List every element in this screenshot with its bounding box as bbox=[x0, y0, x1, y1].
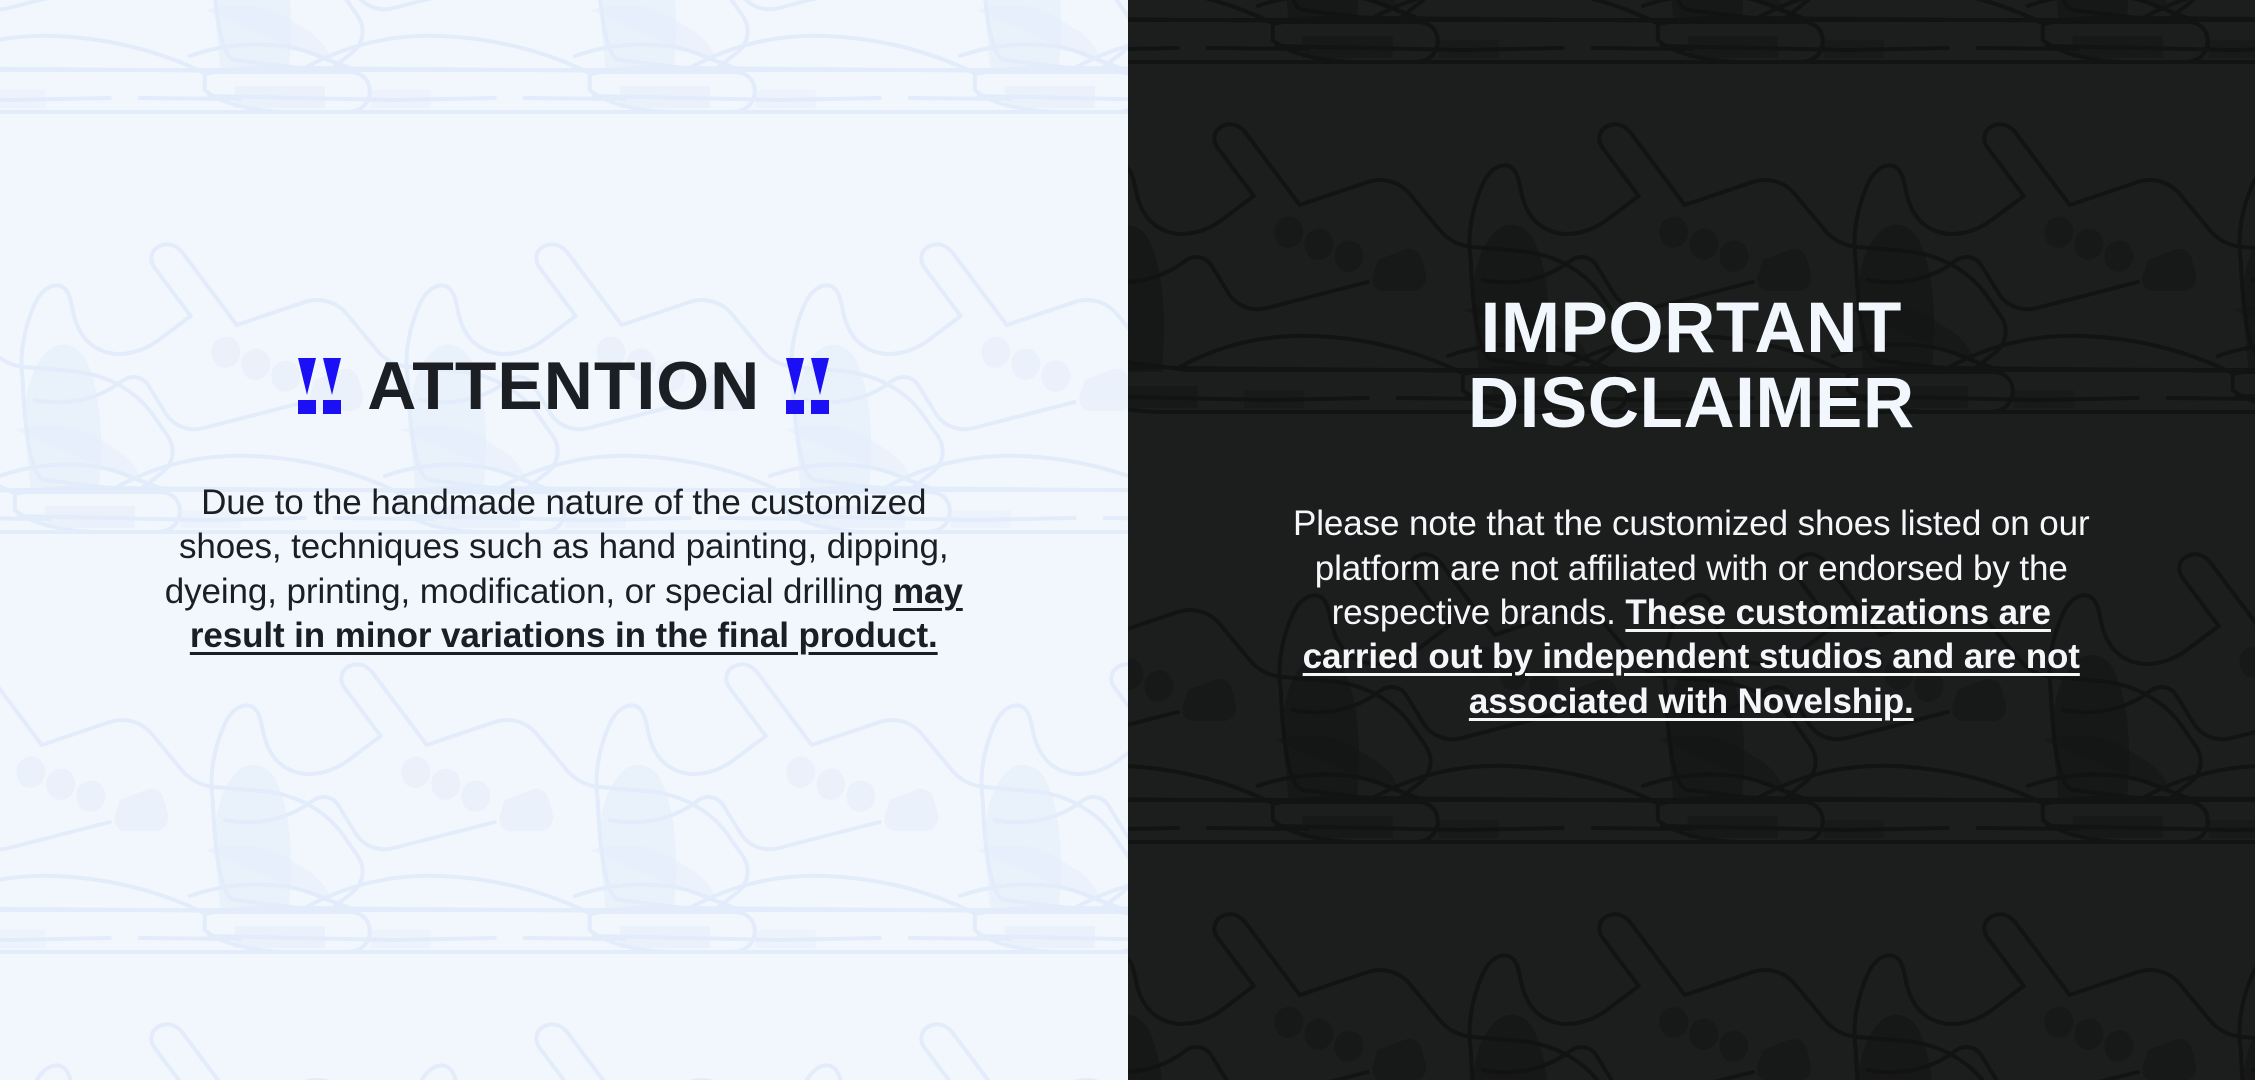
attention-panel: ATTENTION Due to the handmade nature of … bbox=[0, 0, 1128, 1080]
disclaimer-body: Please note that the customized shoes li… bbox=[1277, 502, 2105, 724]
double-exclamation-icon-left bbox=[298, 358, 341, 414]
attention-heading: ATTENTION bbox=[298, 352, 829, 420]
attention-body: Due to the handmade nature of the custom… bbox=[164, 481, 964, 659]
double-exclamation-icon-right bbox=[786, 358, 829, 414]
disclaimer-heading-line-1: IMPORTANT bbox=[1468, 292, 1915, 367]
disclaimer-heading-line-2: DISCLAIMER bbox=[1468, 367, 1915, 442]
customization-disclaimer-banner: ATTENTION Due to the handmade nature of … bbox=[0, 0, 2255, 1080]
disclaimer-heading: IMPORTANT DISCLAIMER bbox=[1468, 292, 1915, 441]
attention-body-plain: Due to the handmade nature of the custom… bbox=[165, 483, 949, 611]
disclaimer-panel: IMPORTANT DISCLAIMER Please note that th… bbox=[1128, 0, 2255, 1080]
attention-heading-text: ATTENTION bbox=[367, 352, 760, 420]
